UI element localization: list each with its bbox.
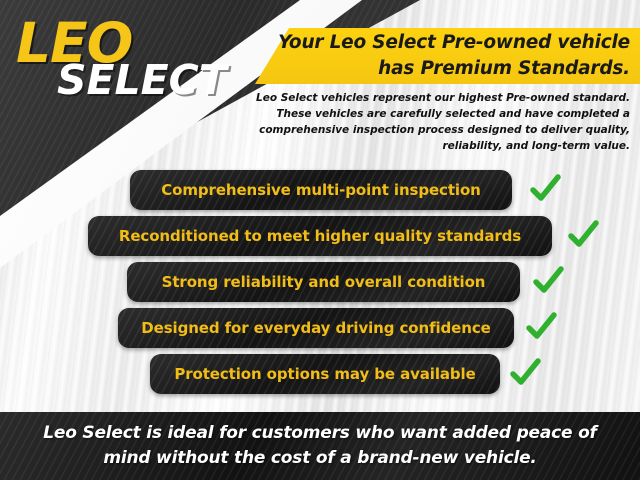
- intro-paragraph: Leo Select vehicles represent our highes…: [218, 90, 630, 154]
- headline-line-1: Your Leo Select Pre-owned vehicle: [250, 30, 630, 56]
- feature-row: Designed for everyday driving confidence: [0, 306, 640, 352]
- feature-row: Protection options may be available: [0, 352, 640, 398]
- feature-label: Protection options may be available: [174, 365, 475, 383]
- headline: Your Leo Select Pre-owned vehicle has Pr…: [250, 30, 630, 82]
- feature-label: Designed for everyday driving confidence: [141, 319, 490, 337]
- check-icon: [566, 218, 600, 252]
- check-icon: [508, 356, 542, 390]
- feature-pill: Reconditioned to meet higher quality sta…: [88, 216, 552, 256]
- feature-pill: Designed for everyday driving confidence: [118, 308, 514, 348]
- feature-label: Reconditioned to meet higher quality sta…: [119, 227, 521, 245]
- feature-label: Comprehensive multi-point inspection: [161, 181, 481, 199]
- feature-pill: Protection options may be available: [150, 354, 500, 394]
- footer-text: Leo Select is ideal for customers who wa…: [25, 421, 615, 471]
- footer-banner: Leo Select is ideal for customers who wa…: [0, 412, 640, 480]
- check-icon: [528, 172, 562, 206]
- logo-secondary-text: SELECT: [57, 60, 227, 101]
- slide-canvas: LEO SELECT Your Leo Select Pre-owned veh…: [0, 0, 640, 480]
- feature-row: Comprehensive multi-point inspection: [0, 168, 640, 214]
- feature-row: Reconditioned to meet higher quality sta…: [0, 214, 640, 260]
- check-icon: [524, 310, 558, 344]
- headline-line-2: has Premium Standards.: [250, 56, 630, 82]
- feature-list: Comprehensive multi-point inspection Rec…: [0, 168, 640, 398]
- leo-select-logo: LEO SELECT: [16, 16, 231, 106]
- check-icon: [531, 264, 565, 298]
- feature-row: Strong reliability and overall condition: [0, 260, 640, 306]
- feature-pill: Comprehensive multi-point inspection: [130, 170, 512, 210]
- feature-pill: Strong reliability and overall condition: [127, 262, 520, 302]
- feature-label: Strong reliability and overall condition: [162, 273, 486, 291]
